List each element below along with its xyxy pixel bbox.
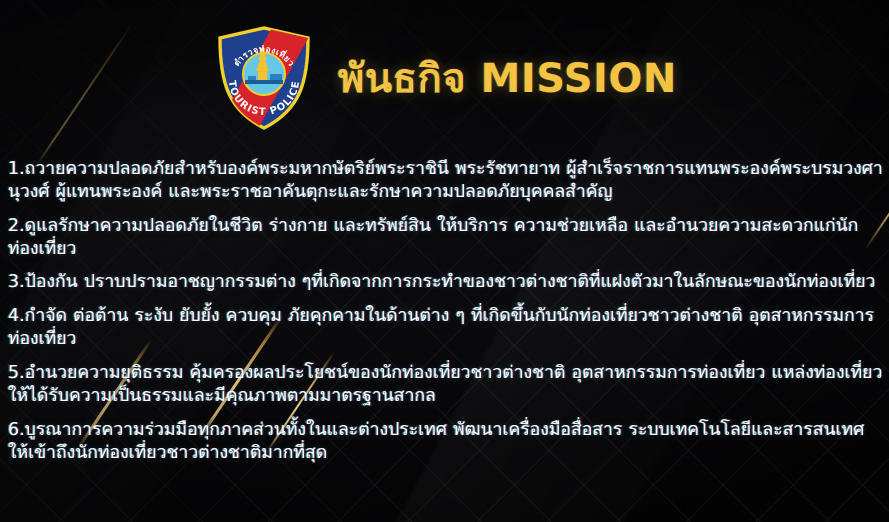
mission-item-1: 1.ถวายความปลอดภัยสำหรับองค์พระมหากษัตริย… bbox=[8, 158, 883, 204]
page-title: พันธกิจ MISSION bbox=[338, 46, 677, 110]
mission-item-4: 4.กำจัด ต่อต้าน ระงับ ยับยั้ง ควบคุม ภัย… bbox=[8, 305, 883, 351]
mission-list: 1.ถวายความปลอดภัยสำหรับองค์พระมหากษัตริย… bbox=[8, 158, 883, 475]
mission-item-2: 2.ดูแลรักษาความปลอดภัยในชีวิต ร่างกาย แล… bbox=[8, 215, 883, 261]
mission-slide: ตำรวจท่องเที่ยว TOURIST POLICE พันธกิจ M… bbox=[0, 0, 889, 522]
mission-item-5: 5.อำนวยความยุติธรรม คุ้มครองผลประโยชน์ขอ… bbox=[8, 362, 883, 408]
mission-item-3: 3.ป้องกัน ปราบปรามอาชญากรรมต่าง ๆที่เกิด… bbox=[8, 271, 883, 294]
tourist-police-shield-badge-icon: ตำรวจท่องเที่ยว TOURIST POLICE bbox=[212, 24, 316, 132]
slide-header: ตำรวจท่องเที่ยว TOURIST POLICE พันธกิจ M… bbox=[0, 18, 889, 138]
mission-item-6: 6.บูรณาการความร่วมมือทุกภาคส่วนทั้งในและ… bbox=[8, 419, 883, 465]
